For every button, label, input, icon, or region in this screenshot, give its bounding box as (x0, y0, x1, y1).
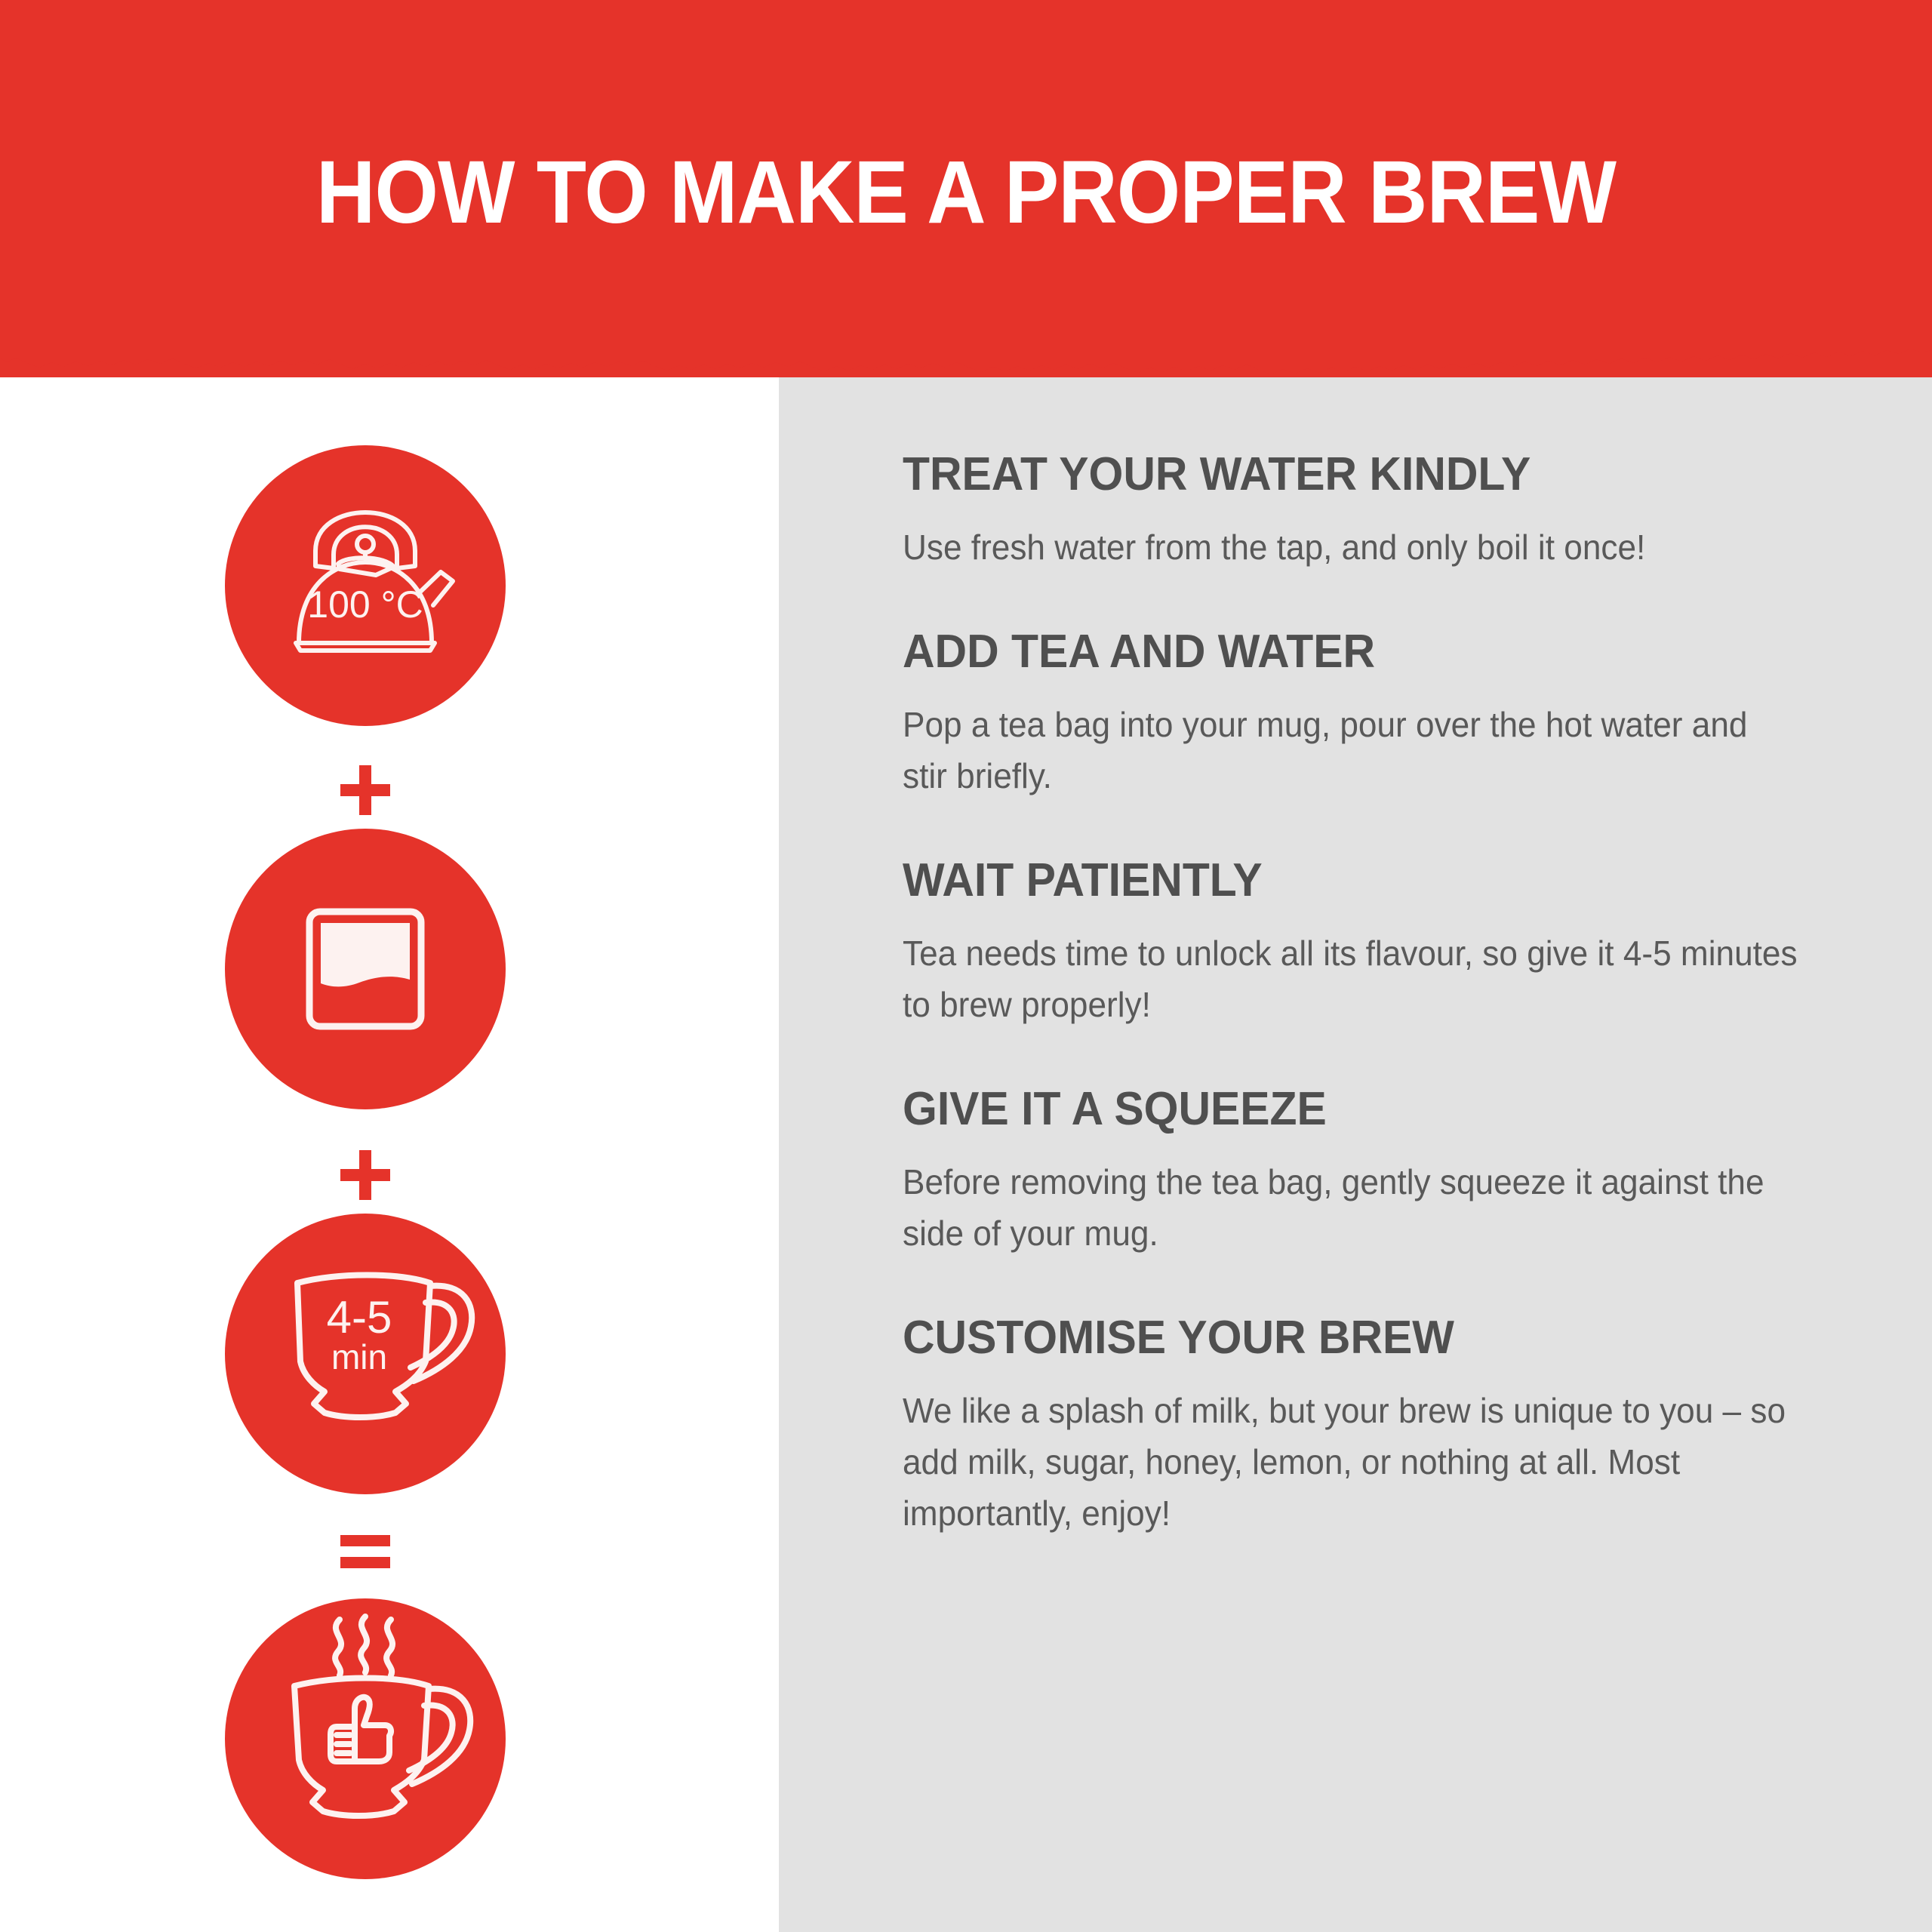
step-item: GIVE IT A SQUEEZE Before removing the te… (903, 1084, 1838, 1259)
mug-time-value: 4-5 (327, 1292, 392, 1343)
kettle-temperature-label: 100 °C (307, 583, 423, 626)
step-heading: GIVE IT A SQUEEZE (903, 1084, 1792, 1135)
equals-symbol (225, 1532, 506, 1575)
step-body: Before removing the tea bag, gently sque… (903, 1156, 1801, 1259)
tea-bag-icon (225, 829, 506, 1109)
step-heading: ADD TEA AND WATER (903, 627, 1792, 678)
header-band: HOW TO MAKE A PROPER BREW (0, 0, 1932, 377)
mug-timer-icon: 4-5 min (225, 1214, 506, 1494)
step-heading: WAIT PATIENTLY (903, 856, 1792, 906)
page-title: HOW TO MAKE A PROPER BREW (77, 148, 1854, 237)
steps-list: TREAT YOUR WATER KINDLY Use fresh water … (903, 450, 1838, 1540)
step-heading: CUSTOMISE YOUR BREW (903, 1313, 1792, 1364)
step-heading: TREAT YOUR WATER KINDLY (903, 450, 1792, 500)
icon-sequence-column: 100 °C (225, 423, 557, 1902)
step-item: TREAT YOUR WATER KINDLY Use fresh water … (903, 450, 1838, 573)
torn-paper-edge-icon (0, 317, 1932, 377)
mug-time-unit: min (331, 1337, 387, 1377)
step-item: ADD TEA AND WATER Pop a tea bag into you… (903, 627, 1838, 801)
step-body: Pop a tea bag into your mug, pour over t… (903, 699, 1801, 801)
step-body: We like a splash of milk, but your brew … (903, 1385, 1801, 1539)
step-body: Tea needs time to unlock all its flavour… (903, 928, 1801, 1030)
plus-symbol (225, 1146, 506, 1208)
mug-thumbs-up-icon (225, 1598, 506, 1879)
plus-symbol (225, 761, 506, 823)
step-item: WAIT PATIENTLY Tea needs time to unlock … (903, 856, 1838, 1030)
kettle-icon: 100 °C (225, 445, 506, 726)
step-body: Use fresh water from the tap, and only b… (903, 521, 1801, 573)
infographic-page: HOW TO MAKE A PROPER BREW (0, 0, 1932, 1932)
step-item: CUSTOMISE YOUR BREW We like a splash of … (903, 1313, 1838, 1539)
